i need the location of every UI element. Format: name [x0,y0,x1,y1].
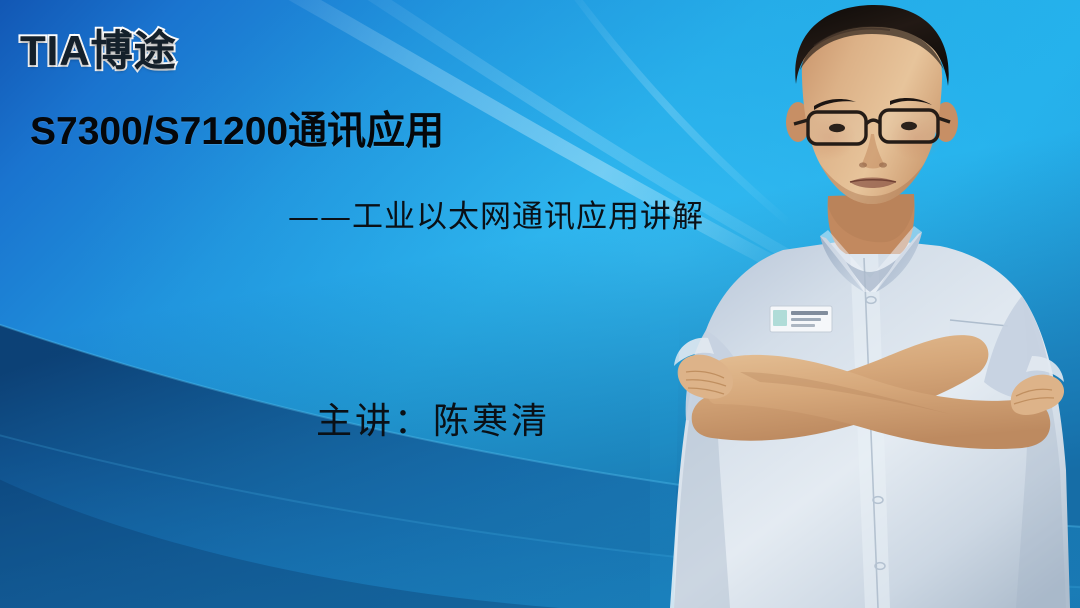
eye-left [829,124,845,132]
shirt-badge [770,306,832,332]
title-slide: TIA博途 TIA博途 S7300/S71200通讯应用 ——工业以太网通讯应用… [0,0,1080,608]
presenter-photo [650,0,1080,608]
eye-right [901,122,917,130]
presenter-name: 主讲：陈寒清 [316,392,550,444]
brand-logo-fill: TIA博途 [20,17,177,78]
page-subtitle: ——工业以太网通讯应用讲解 [288,191,704,236]
page-title: S7300/S71200通讯应用 [30,100,444,156]
